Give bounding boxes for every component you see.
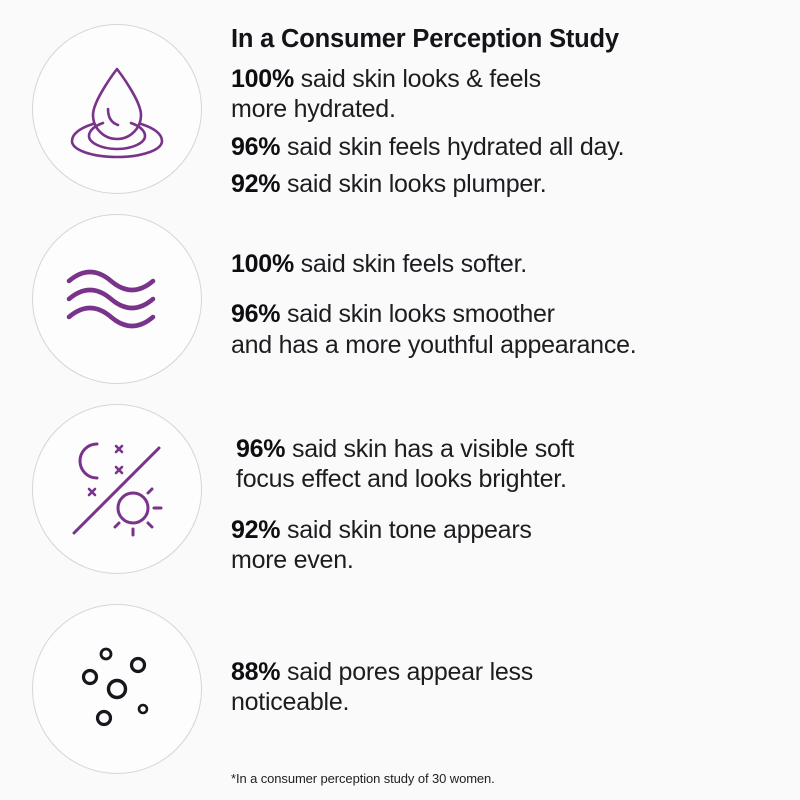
claim-line-continued: and has a more youthful appearance. bbox=[231, 330, 784, 360]
claim-text-2: and has a more youthful appearance. bbox=[231, 331, 636, 359]
consumer-perception-study-infographic: In a Consumer Perception Study 100% said… bbox=[0, 0, 800, 800]
claim-text-2: noticeable. bbox=[231, 688, 349, 716]
claim-percent: 92% bbox=[231, 170, 280, 198]
page-title: In a Consumer Perception Study bbox=[231, 24, 784, 55]
claims-block-brightness: 96% said skin has a visible soft focus e… bbox=[231, 434, 784, 576]
icon-circle-hydration bbox=[32, 24, 202, 194]
claim-line: 96% said skin feels hydrated all day. bbox=[231, 132, 784, 162]
claims-block-softness: 100% said skin feels softer. 96% said sk… bbox=[231, 249, 784, 360]
claim-percent: 100% bbox=[231, 250, 294, 278]
claim-line: 88% said pores appear less bbox=[231, 657, 784, 687]
study-footnote: *In a consumer perception study of 30 wo… bbox=[231, 771, 495, 788]
claim-percent: 96% bbox=[231, 133, 280, 161]
claim-text: said skin has a visible soft bbox=[285, 435, 574, 463]
claim-text: said skin feels hydrated all day. bbox=[280, 133, 624, 161]
claim-text-2: more even. bbox=[231, 546, 354, 574]
claim-line: 96% said skin has a visible soft bbox=[231, 434, 784, 464]
claim-percent: 96% bbox=[236, 435, 285, 463]
claim-line: 92% said skin looks plumper. bbox=[231, 169, 784, 199]
claim-line: 100% said skin feels softer. bbox=[231, 249, 784, 279]
claim-percent: 96% bbox=[231, 300, 280, 328]
claim-line-continued: more hydrated. bbox=[231, 94, 784, 124]
claim-percent: 92% bbox=[231, 516, 280, 544]
wavy-lines-icon bbox=[65, 267, 169, 331]
icon-circle-pores bbox=[32, 604, 202, 774]
claim-line: 96% said skin looks smoother bbox=[231, 299, 784, 329]
claim-text: said skin looks smoother bbox=[280, 300, 554, 328]
claims-block-hydration: In a Consumer Perception Study 100% said… bbox=[231, 24, 784, 200]
claim-percent: 88% bbox=[231, 658, 280, 686]
icon-circle-day-night bbox=[32, 404, 202, 574]
icon-circle-smoothness bbox=[32, 214, 202, 384]
day-night-moon-sun-icon bbox=[62, 434, 172, 544]
claims-block-pores: 88% said pores appear less noticeable. bbox=[231, 657, 784, 718]
claim-line-continued: focus effect and looks brighter. bbox=[231, 464, 784, 494]
claim-percent: 100% bbox=[231, 65, 294, 93]
claim-text: said skin feels softer. bbox=[294, 250, 527, 278]
claim-text: said skin tone appears bbox=[280, 516, 531, 544]
claim-text-2: more hydrated. bbox=[231, 95, 396, 123]
claim-line-continued: more even. bbox=[231, 545, 784, 575]
water-droplet-ripple-icon bbox=[58, 57, 176, 162]
claim-text: said skin looks plumper. bbox=[280, 170, 546, 198]
pores-dots-icon bbox=[67, 639, 167, 739]
claim-text: said pores appear less bbox=[280, 658, 533, 686]
claim-line-continued: noticeable. bbox=[231, 687, 784, 717]
claim-line: 100% said skin looks & feels bbox=[231, 64, 784, 94]
claim-text-2: focus effect and looks brighter. bbox=[236, 465, 567, 493]
claim-text: said skin looks & feels bbox=[294, 65, 541, 93]
claim-line: 92% said skin tone appears bbox=[231, 515, 784, 545]
